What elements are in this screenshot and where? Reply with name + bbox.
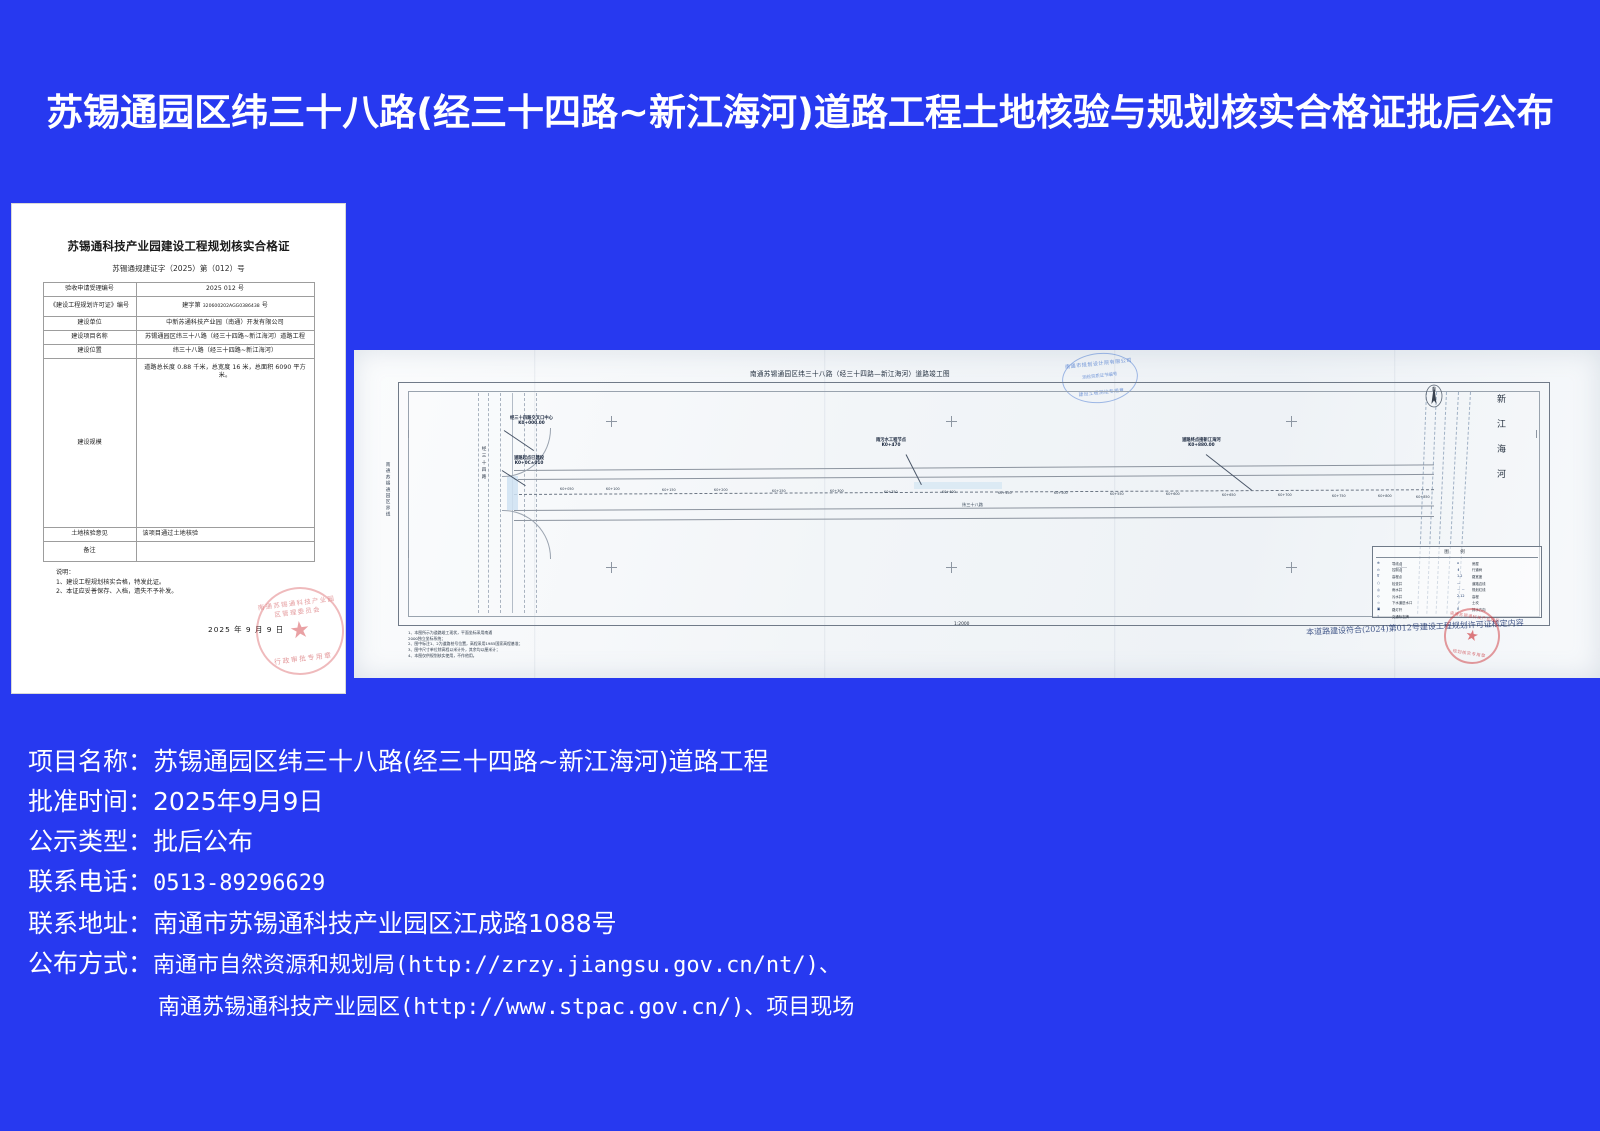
row-value: 纬三十八路（经三十四路~新江海河） — [136, 345, 314, 359]
permit-suffix: 号 — [260, 302, 268, 309]
blue-stamp-line2: 测绘资质证书编号 — [1063, 369, 1137, 383]
notes-heading: 说明： — [56, 568, 345, 578]
legend-label: 雨水井 — [1392, 587, 1402, 592]
table-row: 建设项目名称 苏锡通园区纬三十八路（经三十四路~新江海河）道路工程 — [43, 331, 314, 345]
drawing-notes: 1、本图所示为道路竣工现状，平面坐标采用南通 2000独立坐标系统； 2、图中标… — [408, 630, 523, 658]
star-icon: ★ — [1464, 628, 1480, 645]
label-publish-method: 公布方式： — [28, 949, 153, 978]
info-row-publicity-type: 公示类型：批后公布 — [28, 822, 1568, 862]
value-publicity-type: 批后公布 — [153, 827, 253, 856]
drawing-scale: 1:2000 — [954, 622, 969, 627]
legend-label: 规划红线 — [1472, 587, 1486, 592]
legend-item: ／土坎 — [1457, 600, 1537, 607]
station-mark: K0+150 — [662, 489, 676, 493]
label-publicity-type: 公示类型： — [28, 827, 153, 856]
legend-symbol: — — [1457, 581, 1472, 585]
value-publish-line1: 南通市自然资源和规划局(http://zrzy.jiangsu.gov.cn/n… — [153, 953, 841, 978]
legend-item: ◎雨水井 — [1377, 586, 1457, 593]
legend-symbol: 2.12 — [1457, 594, 1472, 598]
drawing-title: 南通苏锡通园区纬三十八路（经三十四路—新江海河）道路竣工图 — [750, 368, 950, 378]
certificate-number: 苏锡通规建证字（2025）第（012）号 — [12, 263, 345, 274]
value-project-name: 苏锡通园区纬三十八路(经三十四路~新江海河)道路工程 — [153, 747, 768, 776]
legend-symbol: ⌂ — [1457, 561, 1472, 565]
station-mark: K0+750 — [1332, 495, 1346, 499]
station-mark: K0+300 — [830, 490, 844, 494]
row-label: 建设项目名称 — [43, 331, 136, 345]
station-mark: K0+250 — [772, 490, 786, 494]
legend-symbol: ⇞ — [1457, 568, 1472, 572]
svg-text:N: N — [1432, 387, 1436, 393]
legend-symbol: 1.2 — [1457, 574, 1472, 578]
certificate-title: 苏锡通科技产业园建设工程规划核实合格证 — [12, 238, 345, 254]
value-approval-time: 2025年9月9日 — [153, 787, 323, 816]
value-publish-line2: 南通苏锡通科技产业园区(http://www.stpac.gov.cn/)、项目… — [158, 995, 854, 1020]
station-mark: K0+100 — [606, 488, 620, 492]
legend-label: 高程 — [1472, 594, 1479, 599]
legend-column-left: ⊕导线点 ⊙控制点 ∇高程点 ○检查井 ◎雨水井 ◇污水井 ☆下水道进水口 ▣路… — [1377, 560, 1457, 619]
row-value: 道路总长度 0.88 千米，总宽度 16 米，总面积 6090 平方米。 — [136, 359, 314, 528]
info-row-approval-time: 批准时间：2025年9月9日 — [28, 782, 1568, 822]
station-mark: K0+700 — [1278, 494, 1292, 498]
station-mark: K0+500 — [1054, 492, 1068, 496]
legend-symbol: ○ — [1377, 581, 1392, 585]
legend-item: － －规划红线 — [1457, 586, 1537, 593]
publication-info: 项目名称：苏锡通园区纬三十八路(经三十四路~新江海河)道路工程 批准时间：202… — [28, 742, 1568, 1028]
row-value: 中新苏通科技产业园（南通）开发有限公司 — [136, 317, 314, 331]
river-label-right: 新江海河 — [1494, 394, 1507, 494]
legend-symbol: ⌁ — [1377, 614, 1392, 618]
callout-1-line2: K0+000.00 — [518, 421, 545, 426]
callout-4-line2: K0+880.00 — [1188, 443, 1215, 448]
callout-2: 道路起点已建段 K0+0C±010 — [514, 456, 544, 467]
row-value: 苏锡通园区纬三十八路（经三十四路~新江海河）道路工程 — [136, 331, 314, 345]
permit-prefix: 建字第 — [182, 302, 203, 309]
row-label: 备注 — [43, 542, 136, 562]
red-stamp-line2: 规划核实专用章 — [1443, 647, 1495, 661]
legend-label: 污水井 — [1392, 594, 1402, 599]
table-row: 土地核验意见 该项目通过土地核验 — [43, 528, 314, 542]
station-mark: K0+400 — [942, 491, 956, 495]
permit-number: 320600202AGG0386438 — [203, 304, 260, 309]
info-row-address: 联系地址：南通市苏锡通科技产业园区江成路1088号 — [28, 904, 1568, 944]
row-value — [136, 542, 314, 562]
callout-3-line2: K0+470 — [882, 443, 901, 448]
row-label: 《建设工程规划许可证》编号 — [43, 297, 136, 317]
legend-item: ○检查井 — [1377, 580, 1457, 587]
label-phone: 联系电话： — [28, 867, 153, 896]
callout-4: 道路终点接新江海河 K0+880.00 — [1182, 438, 1221, 449]
edge-label-left: 南通苏锡通园区界线 — [384, 462, 390, 518]
station-mark: K0+850 — [1416, 496, 1430, 500]
legend-label: 道路边线 — [1472, 581, 1486, 586]
legend-symbol: ☆ — [1377, 601, 1392, 605]
legend-item: 1.2路宽度 — [1457, 573, 1537, 580]
page-title: 苏锡通园区纬三十八路(经三十四路~新江海河)道路工程土地核验与规划核实合格证批后… — [0, 82, 1600, 136]
note-item: 1、建设工程规划核实合格，特发此证。 — [56, 578, 345, 588]
road-label-center: 纬三十八路 — [962, 502, 983, 508]
legend-symbol: ◎ — [1377, 588, 1392, 592]
legend-item: ⊙控制点 — [1377, 567, 1457, 574]
legend-item: —道路边线 — [1457, 580, 1537, 587]
legend-item: ⊕导线点 — [1377, 560, 1457, 567]
legend-item: ∇高程点 — [1377, 573, 1457, 580]
drawing-legend: 图 例 ⊕导线点 ⊙控制点 ∇高程点 ○检查井 ◎雨水井 ◇污水井 ☆下水道进水… — [1372, 546, 1542, 618]
callout-2-line2: K0+0C±010 — [515, 461, 544, 466]
callout-3: 雨污水工程节点 K0+470 — [876, 438, 906, 449]
station-mark: K0+350 — [884, 491, 898, 495]
legend-symbol: ⊕ — [1377, 561, 1392, 565]
stamp-arc-bottom-text: 行政审批专用章 — [261, 648, 345, 668]
row-label: 建设规模 — [43, 359, 136, 528]
callout-1: 经三十四路交叉口中心 K0+000.00 — [510, 416, 553, 427]
north-arrow-icon: N — [1422, 382, 1446, 408]
legend-symbol: ▣ — [1377, 607, 1392, 611]
row-value: 建字第 320600202AGG0386438 号 — [136, 297, 314, 317]
legend-item: ◇污水井 — [1377, 593, 1457, 600]
certificate-scan-image: 苏锡通科技产业园建设工程规划核实合格证 苏锡通规建证字（2025）第（012）号… — [12, 204, 345, 693]
legend-item: ⌁交通标志牌 — [1377, 613, 1457, 620]
table-row: 《建设工程规划许可证》编号 建字第 320600202AGG0386438 号 — [43, 297, 314, 317]
label-project-name: 项目名称： — [28, 747, 153, 776]
legend-label: 土坎 — [1472, 600, 1479, 605]
legend-title: 图 例 — [1373, 549, 1541, 555]
legend-label: 高程点 — [1392, 574, 1402, 579]
info-row-project-name: 项目名称：苏锡通园区纬三十八路(经三十四路~新江海河)道路工程 — [28, 742, 1568, 782]
legend-symbol: ⊙ — [1377, 568, 1392, 572]
legend-symbol: ∇ — [1377, 574, 1392, 578]
table-row: 建设位置 纬三十八路（经三十四路~新江海河） — [43, 345, 314, 359]
legend-label: 行道树 — [1472, 567, 1482, 572]
table-row: 建设单位 中新苏通科技产业园（南通）开发有限公司 — [43, 317, 314, 331]
table-row: 建设规模 道路总长度 0.88 千米，总宽度 16 米，总面积 6090 平方米… — [43, 359, 314, 528]
station-mark: K0+600 — [1166, 493, 1180, 497]
station-mark: K0+800 — [1378, 495, 1392, 499]
value-address: 南通市苏锡通科技产业园区江成路1088号 — [153, 909, 617, 938]
row-label: 验收申请受理编号 — [43, 283, 136, 297]
row-value: 2025 012 号 — [136, 283, 314, 297]
info-row-publish-method: 公布方式：南通市自然资源和规划局(http://zrzy.jiangsu.gov… — [28, 944, 1568, 986]
table-row: 备注 — [43, 542, 314, 562]
legend-item: ⇞行道树 — [1457, 567, 1537, 574]
station-mark: K0+200 — [714, 489, 728, 493]
star-icon: ★ — [288, 618, 311, 643]
legend-label: 路宽度 — [1472, 574, 1482, 579]
legend-label: 导线点 — [1392, 561, 1402, 566]
legend-item: 2.12高程 — [1457, 593, 1537, 600]
legend-label: 控制点 — [1392, 567, 1402, 572]
legend-item: ☆下水道进水口 — [1377, 600, 1457, 607]
row-value: 该项目通过土地核验 — [136, 528, 314, 542]
info-row-publish-method-2: 南通苏锡通科技产业园区(http://www.stpac.gov.cn/)、项目… — [28, 986, 1568, 1028]
legend-label: 房屋 — [1472, 561, 1479, 566]
row-label: 建设单位 — [43, 317, 136, 331]
street-label-left: 经三十四路 — [480, 446, 486, 481]
legend-label: 路灯杆 — [1392, 607, 1402, 612]
row-label: 土地核验意见 — [43, 528, 136, 542]
station-mark: K0+450 — [998, 492, 1012, 496]
info-row-phone: 联系电话：0513-89296629 — [28, 862, 1568, 904]
legend-item: ⌂房屋 — [1457, 560, 1537, 567]
station-mark: K0+050 — [560, 488, 574, 492]
drawing-note-item: 4、本图仅供规划核实使用，不作他用。 — [408, 653, 523, 659]
engineering-drawing-scan: 南通苏锡通园区纬三十八路（经三十四路—新江海河）道路竣工图 南通市规划设计院有限… — [354, 350, 1600, 678]
legend-item: ▣路灯杆 — [1377, 606, 1457, 613]
legend-label: 交通标志牌 — [1392, 614, 1409, 619]
station-mark: K0+650 — [1222, 494, 1236, 498]
label-approval-time: 批准时间： — [28, 787, 153, 816]
table-row: 验收申请受理编号 2025 012 号 — [43, 283, 314, 297]
legend-symbol: － － — [1457, 587, 1472, 592]
certificate-table: 验收申请受理编号 2025 012 号 《建设工程规划许可证》编号 建字第 32… — [43, 282, 315, 562]
legend-label: 下水道进水口 — [1392, 600, 1412, 605]
legend-symbol: ◇ — [1377, 594, 1392, 598]
row-label: 建设位置 — [43, 345, 136, 359]
label-address: 联系地址： — [28, 909, 153, 938]
blue-stamp-line1: 南通市规划设计院有限公司 — [1061, 356, 1135, 371]
value-phone: 0513-89296629 — [153, 871, 325, 896]
legend-label: 检查井 — [1392, 581, 1402, 586]
legend-symbol: ／ — [1457, 600, 1472, 605]
station-mark: K0+550 — [1110, 493, 1124, 497]
